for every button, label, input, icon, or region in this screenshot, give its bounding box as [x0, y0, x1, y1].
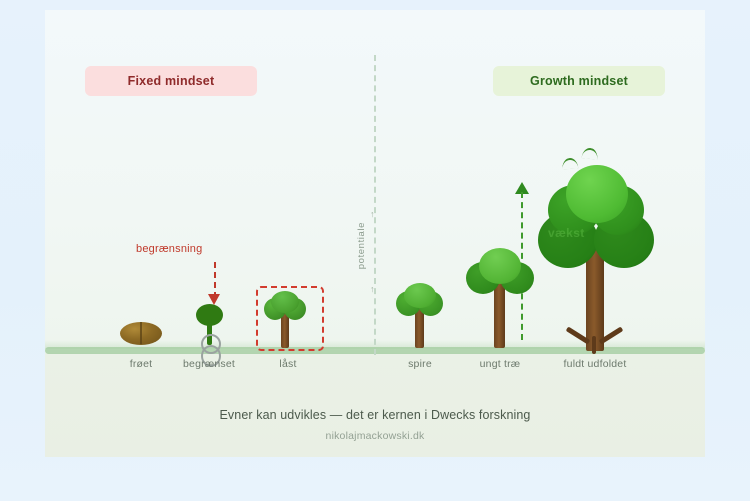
- limitation-annotation: begrænsning: [136, 243, 202, 255]
- stage-label-fuldt-udfoldet: fuldt udfoldet: [535, 358, 655, 370]
- center-divider: [374, 55, 376, 355]
- young-tree-trunk: [494, 283, 505, 348]
- locked-tree-leaf-top: [271, 291, 299, 313]
- growth-mindset-label: Growth mindset: [493, 66, 665, 96]
- illustration-canvas: Evner kan udvikles — det er kernen i Dwe…: [0, 0, 750, 501]
- seed-crack-detail: [140, 322, 142, 344]
- full-tree-leaf-crown: [566, 165, 628, 223]
- full-tree-trunk: [586, 246, 604, 351]
- potential-arrow-down-icon: ↑: [370, 285, 375, 294]
- limitation-arrow-shaft: [214, 262, 216, 298]
- full-tree-root-center: [592, 336, 596, 354]
- young-tree-leaf-top: [479, 248, 521, 284]
- footer-source: nikolajmackowski.dk: [45, 430, 705, 442]
- spire-leaf-top: [404, 283, 436, 308]
- potential-axis-label: potentiale: [356, 222, 367, 269]
- footer-caption: Evner kan udvikles — det er kernen i Dwe…: [45, 408, 705, 422]
- stage-label-laast: låst: [228, 358, 348, 370]
- spire-trunk: [415, 308, 424, 348]
- fixed-mindset-label: Fixed mindset: [85, 66, 257, 96]
- potential-arrow-up-icon: ↑: [370, 210, 375, 219]
- vaekst-watermark: vækst: [548, 226, 585, 240]
